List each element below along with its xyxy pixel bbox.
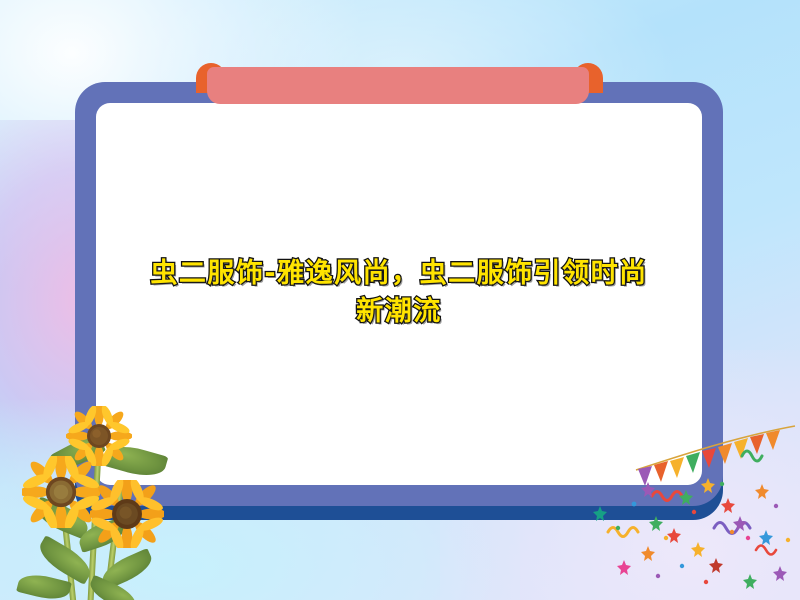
slide-canvas: 虫二服饰-雅逸风尚，虫二服饰引领时尚 新潮流 bbox=[0, 0, 800, 600]
confetti-dots-group bbox=[616, 482, 790, 584]
sunflower-leaf bbox=[86, 575, 140, 600]
streamer bbox=[608, 528, 638, 537]
page-title-line-1: 虫二服饰-雅逸风尚，虫二服饰引领时尚 bbox=[96, 255, 702, 293]
streamer bbox=[756, 546, 776, 555]
sunflower-leaf bbox=[98, 548, 156, 590]
sunflower-bloom bbox=[22, 456, 100, 528]
streamer bbox=[742, 451, 762, 461]
sunflower-leaf bbox=[34, 535, 96, 585]
clip-nub-right-icon bbox=[573, 63, 603, 93]
streamer bbox=[714, 523, 750, 534]
sunflower-icon bbox=[90, 480, 164, 548]
sunflower-leaf bbox=[32, 496, 93, 539]
confetti-stars-group bbox=[593, 478, 787, 589]
sunflower-bloom bbox=[90, 480, 164, 548]
sunflower-stem bbox=[57, 476, 77, 600]
clipboard-tab-bar bbox=[207, 67, 589, 104]
streamer bbox=[652, 492, 682, 501]
page-title: 虫二服饰-雅逸风尚，虫二服饰引领时尚 新潮流 bbox=[96, 255, 702, 332]
clip-nub-left-icon bbox=[196, 63, 226, 93]
sunflower-icon bbox=[22, 456, 100, 528]
sunflower-stem bbox=[103, 490, 123, 600]
card-content-area: 虫二服饰-雅逸风尚，虫二服饰引领时尚 新潮流 bbox=[96, 103, 702, 485]
sunflower-leaf bbox=[76, 517, 128, 553]
page-title-line-2: 新潮流 bbox=[96, 293, 702, 331]
sunflower-leaf bbox=[16, 570, 72, 600]
